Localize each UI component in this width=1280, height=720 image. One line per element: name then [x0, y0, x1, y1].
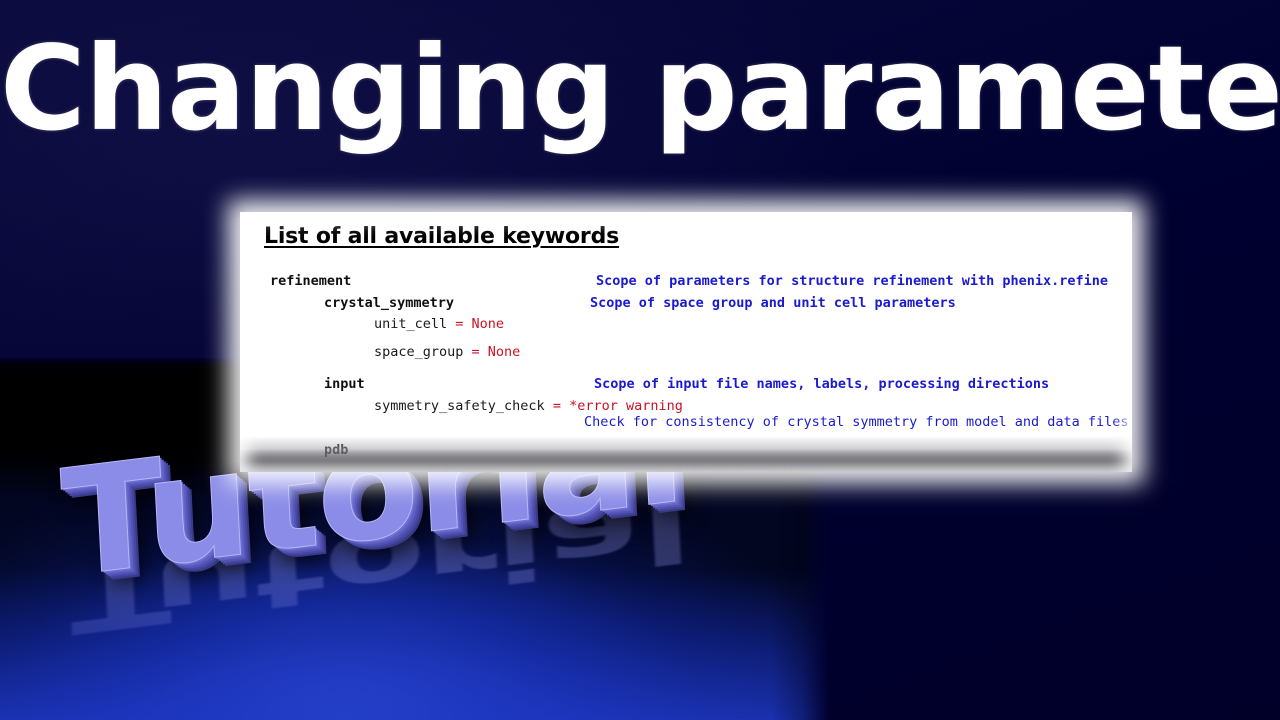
keyword-row: pdb [240, 444, 1132, 462]
keyword-value: None [524, 463, 557, 472]
keyword-label: file_name [426, 463, 499, 472]
keyword-label: symmetry_safety_check [374, 398, 545, 414]
keyword-label: input [324, 376, 365, 392]
keyword-help-text: Check for consistency of crystal symmetr… [584, 416, 1129, 430]
keyword-row: refinementScope of parameters for struct… [240, 275, 1132, 293]
keyword-label: refinement [270, 273, 351, 289]
keywords-panel: List of all available keywords refinemen… [240, 212, 1132, 472]
keyword-label: space_group [374, 344, 463, 360]
page-title: Changing parameters [0, 28, 1280, 151]
keyword-equals: = [463, 344, 487, 360]
keyword-label: unit_cell [374, 316, 447, 332]
keyword-equals: = [545, 398, 569, 414]
keyword-help-text: Scope of parameters for structure refine… [596, 275, 1108, 289]
keyword-help-text: Model file(s) name (PDB) [626, 465, 821, 472]
keyword-row: Check for consistency of crystal symmetr… [240, 416, 1132, 434]
keyword-name: pdb [324, 444, 348, 458]
keyword-name: symmetry_safety_check = *error warning [374, 400, 683, 414]
keyword-name: file_name = None [426, 465, 556, 472]
keyword-label: crystal_symmetry [324, 295, 454, 311]
panel-heading: List of all available keywords [264, 224, 619, 249]
keyword-row: crystal_symmetryScope of space group and… [240, 297, 1132, 315]
keyword-row: space_group = None [240, 346, 1132, 364]
keyword-help-text: Scope of space group and unit cell param… [590, 297, 956, 311]
keyword-listing: refinementScope of parameters for struct… [240, 264, 1132, 472]
keyword-name: space_group = None [374, 346, 520, 360]
keyword-value: None [472, 316, 505, 332]
keyword-value: *error warning [569, 398, 683, 414]
keyword-name: refinement [270, 275, 351, 289]
keyword-equals: = [447, 316, 471, 332]
keyword-row: unit_cell = None [240, 318, 1132, 336]
keyword-value: None [488, 344, 521, 360]
keyword-row: file_name = NoneModel file(s) name (PDB) [240, 465, 1132, 472]
keyword-help-text: Scope of input file names, labels, proce… [594, 378, 1049, 392]
keyword-label: pdb [324, 442, 348, 458]
keyword-name: crystal_symmetry [324, 297, 454, 311]
keyword-name: input [324, 378, 365, 392]
slide-canvas: Changing parameters Tutorial Tutorial Li… [0, 0, 1280, 720]
keyword-name: unit_cell = None [374, 318, 504, 332]
keyword-equals: = [499, 463, 523, 472]
keyword-row: inputScope of input file names, labels, … [240, 378, 1132, 396]
